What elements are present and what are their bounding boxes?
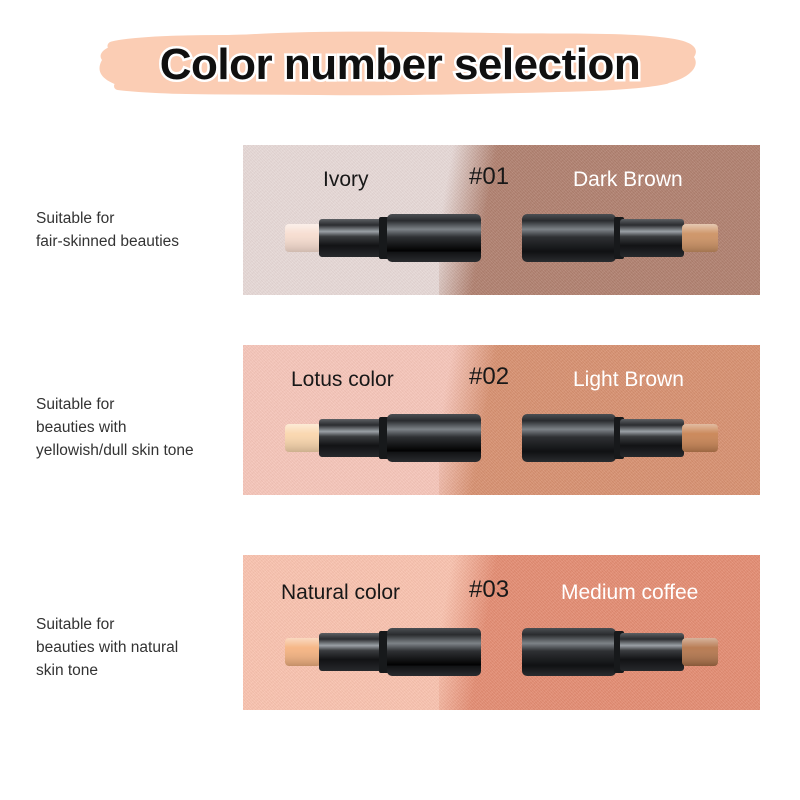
shade-code: #02 <box>469 364 509 390</box>
shade-label-left: Lotus color <box>291 367 394 393</box>
row-caption: Suitable for beauties with natural skin … <box>36 613 241 682</box>
shade-code: #03 <box>469 577 509 603</box>
row-caption: Suitable for beauties with yellowish/dul… <box>36 393 241 462</box>
shade-label-left: Natural color <box>281 580 400 606</box>
shade-label-right: Medium coffee <box>561 580 698 606</box>
shade-label-right: Light Brown <box>573 367 684 393</box>
shade-label-left: Ivory <box>323 167 369 193</box>
product-row: Suitable for beauties with yellowish/dul… <box>0 345 800 495</box>
caption-line: beauties with natural <box>36 636 241 659</box>
caption-line: Suitable for <box>36 207 241 230</box>
shade-swatch-panel[interactable]: Lotus color #02 Light Brown <box>243 345 760 495</box>
concealer-stick-right[interactable] <box>520 627 720 677</box>
caption-line: skin tone <box>36 659 241 682</box>
shade-swatch-panel[interactable]: Natural color #03 Medium coffee <box>243 555 760 710</box>
concealer-stick-left[interactable] <box>283 627 483 677</box>
caption-line: Suitable for <box>36 613 241 636</box>
caption-line: beauties with <box>36 416 241 439</box>
shade-label-right: Dark Brown <box>573 167 683 193</box>
concealer-stick-right[interactable] <box>520 413 720 463</box>
concealer-stick-left[interactable] <box>283 413 483 463</box>
shade-swatch-panel[interactable]: Ivory #01 Dark Brown <box>243 145 760 295</box>
product-row: Suitable for fair-skinned beauties Ivory… <box>0 145 800 295</box>
caption-line: yellowish/dull skin tone <box>36 439 241 462</box>
page-title: Color number selection <box>0 34 800 96</box>
concealer-stick-left[interactable] <box>283 213 483 263</box>
shade-code: #01 <box>469 164 509 190</box>
caption-line: fair-skinned beauties <box>36 230 241 253</box>
concealer-stick-right[interactable] <box>520 213 720 263</box>
row-caption: Suitable for fair-skinned beauties <box>36 207 241 253</box>
page-header: Color number selection <box>0 0 800 126</box>
caption-line: Suitable for <box>36 393 241 416</box>
product-row: Suitable for beauties with natural skin … <box>0 555 800 710</box>
